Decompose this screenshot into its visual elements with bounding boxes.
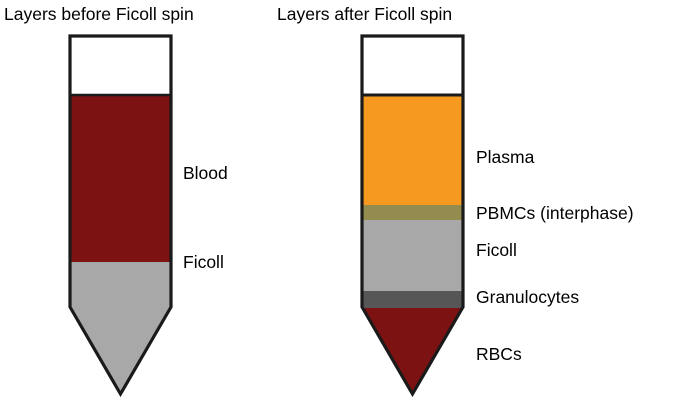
layer-blood-before <box>68 95 173 262</box>
layer-pbmcs-after <box>360 205 465 220</box>
tube-before <box>68 34 173 397</box>
layer-plasma-after <box>360 96 465 205</box>
label-pbmcs: PBMCs (interphase) <box>476 203 634 223</box>
layer-rbcs-after <box>360 308 465 398</box>
tube-after <box>360 34 465 398</box>
label-granulocytes: Granulocytes <box>476 287 579 307</box>
layer-air-after <box>360 34 465 96</box>
label-ficoll-after: Ficoll <box>476 240 517 260</box>
label-plasma: Plasma <box>476 147 534 167</box>
layer-air-before <box>68 34 173 96</box>
layer-ficoll-after <box>360 220 465 291</box>
label-blood: Blood <box>183 163 228 183</box>
label-ficoll-before: Ficoll <box>183 252 224 272</box>
layer-granulocytes-after <box>360 291 465 308</box>
label-rbcs: RBCs <box>476 344 522 364</box>
ficoll-separation-figure: Layers before Ficoll spin Layers after F… <box>0 0 675 401</box>
tubes-illustration <box>0 0 675 401</box>
